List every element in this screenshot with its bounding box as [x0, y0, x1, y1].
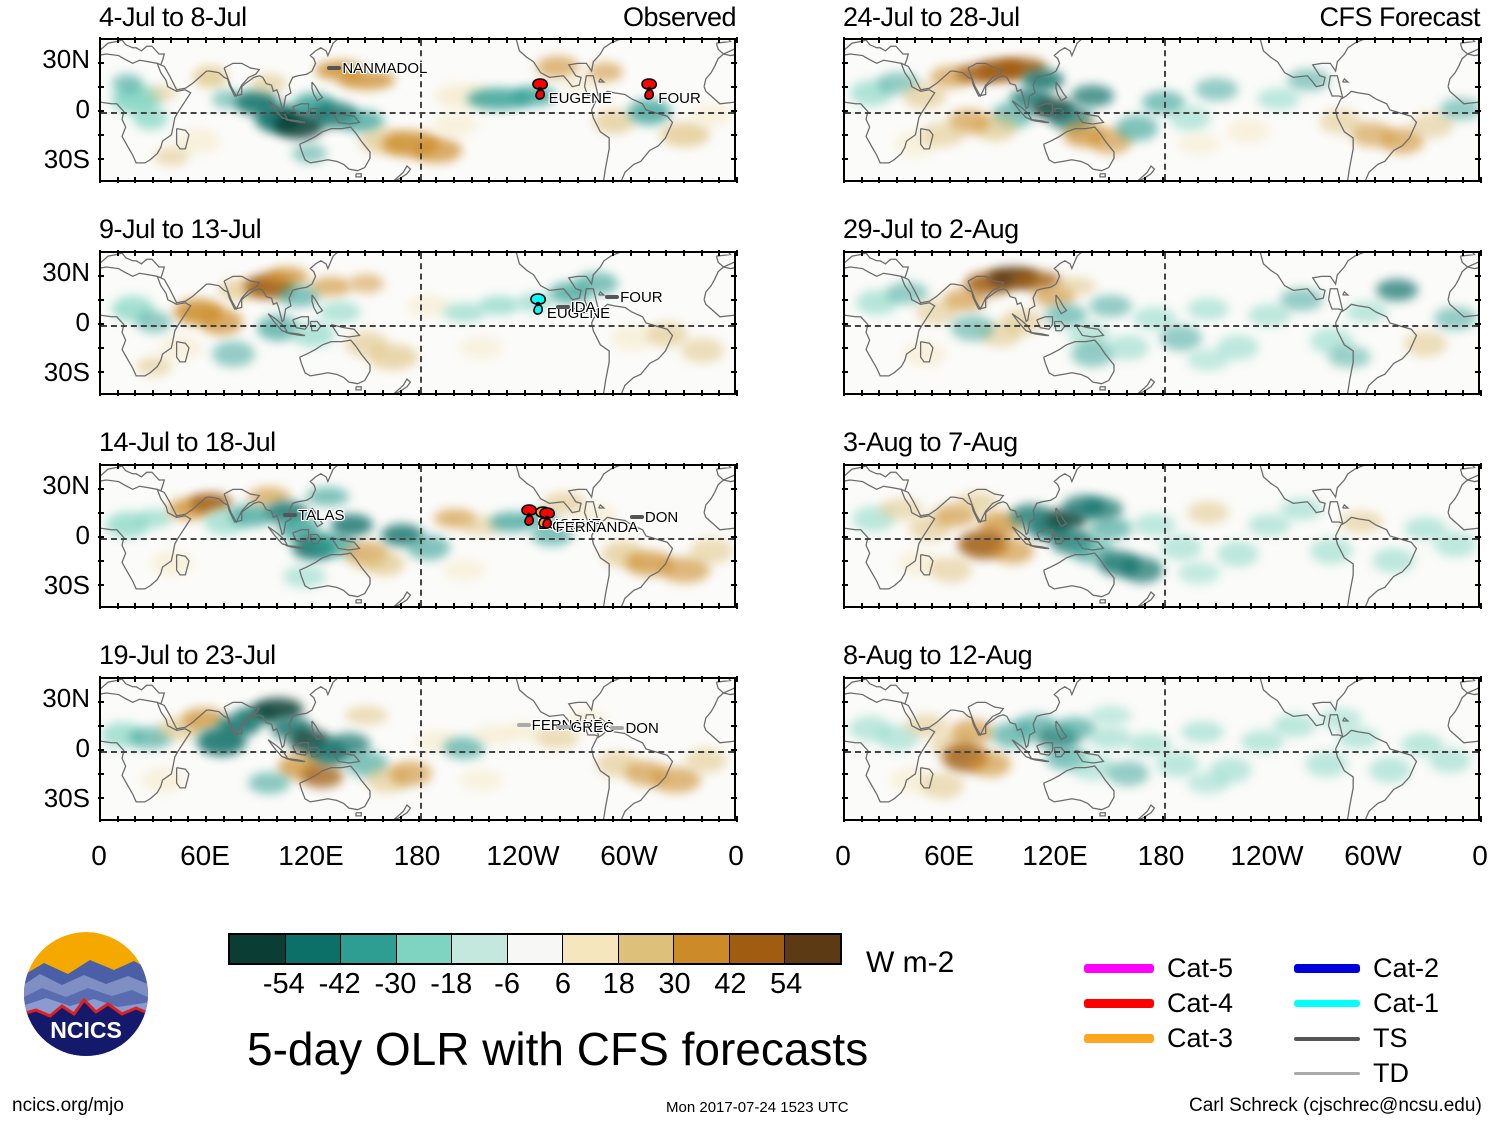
map-field-p8 — [845, 679, 1478, 819]
axis-tick — [364, 177, 366, 183]
axis-tick — [453, 676, 455, 682]
axis-tick — [329, 250, 331, 256]
axis-tick — [1215, 250, 1217, 256]
axis-tick — [967, 37, 969, 43]
axis-tick — [1250, 250, 1252, 256]
axis-tick — [1197, 816, 1199, 822]
axis-tick — [311, 463, 313, 469]
axis-tick — [967, 250, 969, 256]
axis-tick — [152, 177, 154, 183]
colorbar-swatch-6 — [563, 935, 619, 963]
axis-tick — [329, 463, 331, 469]
axis-tick — [842, 584, 848, 586]
axis-tick — [559, 390, 561, 396]
axis-tick — [1427, 816, 1429, 822]
axis-tick — [1055, 816, 1057, 822]
axis-tick — [364, 250, 366, 256]
axis-tick — [1475, 560, 1481, 562]
axis-tick — [1126, 603, 1128, 609]
axis-tick — [294, 250, 296, 256]
axis-tick — [896, 463, 898, 469]
axis-tick — [594, 603, 596, 609]
axis-tick — [842, 86, 848, 88]
axis-tick — [1475, 488, 1481, 490]
axis-tick — [842, 536, 848, 538]
axis-tick — [1374, 816, 1376, 822]
axis-tick — [736, 177, 738, 183]
axis-tick — [577, 463, 579, 469]
axis-tick — [152, 250, 154, 256]
axis-tick — [98, 371, 104, 373]
axis-tick — [718, 390, 720, 396]
axis-tick — [1108, 177, 1110, 183]
axis-tick — [1038, 603, 1040, 609]
map-panel-p4[interactable] — [99, 677, 736, 821]
axis-tick — [98, 347, 104, 349]
coastlines-p6 — [845, 253, 1478, 393]
axis-tick — [718, 37, 720, 43]
axis-tick — [1020, 463, 1022, 469]
axis-tick — [861, 603, 863, 609]
colorbar-swatch-0 — [230, 935, 286, 963]
axis-tick — [1480, 816, 1482, 822]
map-panel-p8[interactable] — [843, 677, 1480, 821]
axis-tick — [418, 390, 420, 396]
axis-tick — [683, 463, 685, 469]
legend-item-cat-5: Cat-5 — [1084, 953, 1233, 984]
axis-tick — [541, 390, 543, 396]
axis-tick — [861, 37, 863, 43]
axis-tick — [612, 603, 614, 609]
axis-tick — [1475, 299, 1481, 301]
storm-label: DON — [645, 509, 678, 526]
axis-tick — [967, 816, 969, 822]
axis-tick — [949, 816, 951, 822]
axis-tick — [134, 177, 136, 183]
axis-tick — [949, 177, 951, 183]
axis-tick — [506, 816, 508, 822]
axis-tick — [665, 603, 667, 609]
axis-tick — [382, 37, 384, 43]
map-panel-p2[interactable] — [99, 251, 736, 395]
xtick-right-4: 120W — [1230, 840, 1303, 872]
legend-item-ts: TS — [1294, 1023, 1408, 1054]
axis-tick — [1462, 37, 1464, 43]
axis-tick — [1268, 816, 1270, 822]
axis-tick — [731, 584, 737, 586]
axis-tick — [364, 816, 366, 822]
colorbar-swatch-3 — [397, 935, 453, 963]
axis-tick — [435, 250, 437, 256]
axis-tick — [1338, 816, 1340, 822]
axis-tick — [1445, 463, 1447, 469]
axis-tick — [311, 390, 313, 396]
axis-tick — [731, 725, 737, 727]
axis-tick — [1250, 390, 1252, 396]
axis-tick — [1338, 463, 1340, 469]
axis-tick — [1215, 676, 1217, 682]
axis-tick — [985, 250, 987, 256]
dateline — [1164, 679, 1166, 819]
axis-tick — [205, 390, 207, 396]
axis-tick — [1073, 177, 1075, 183]
axis-tick — [896, 250, 898, 256]
axis-tick — [418, 177, 420, 183]
colorbar-tick-42: 42 — [714, 968, 746, 1001]
axis-tick — [1392, 390, 1394, 396]
axis-tick — [1475, 62, 1481, 64]
axis-tick — [842, 773, 848, 775]
axis-tick — [967, 390, 969, 396]
axis-tick — [311, 250, 313, 256]
axis-tick — [731, 797, 737, 799]
panel-title-p2: 9-Jul to 13-Jul — [99, 214, 261, 245]
map-panel-p6[interactable] — [843, 251, 1480, 395]
axis-tick — [842, 134, 848, 136]
ytick-30s-p2: 30S — [0, 357, 90, 388]
axis-tick — [1285, 463, 1287, 469]
axis-tick — [630, 463, 632, 469]
colorbar-tick--54: -54 — [263, 968, 305, 1001]
axis-tick — [1268, 177, 1270, 183]
axis-tick — [1285, 250, 1287, 256]
storm-track-line — [517, 723, 531, 727]
axis-tick — [187, 177, 189, 183]
axis-tick — [488, 37, 490, 43]
storm-label: FOUR — [620, 289, 663, 306]
axis-tick — [400, 177, 402, 183]
dateline — [1164, 253, 1166, 393]
axis-tick — [400, 603, 402, 609]
panel-title-p7: 3-Aug to 7-Aug — [843, 427, 1018, 458]
axis-tick — [612, 37, 614, 43]
axis-tick — [329, 37, 331, 43]
axis-tick — [630, 177, 632, 183]
column-header-observed-label: Observed — [436, 2, 736, 33]
axis-tick — [418, 463, 420, 469]
legend-line-cat-5 — [1084, 964, 1154, 973]
axis-tick — [1268, 603, 1270, 609]
axis-tick — [736, 37, 738, 43]
axis-tick — [878, 37, 880, 43]
map-field-p5 — [845, 40, 1478, 180]
axis-tick — [541, 177, 543, 183]
axis-tick — [1091, 177, 1093, 183]
axis-tick — [152, 463, 154, 469]
axis-tick — [506, 390, 508, 396]
storm-label: FOUR — [658, 90, 701, 107]
axis-tick — [843, 37, 845, 43]
axis-tick — [1462, 177, 1464, 183]
axis-tick — [1427, 250, 1429, 256]
axis-tick — [843, 177, 845, 183]
axis-tick — [347, 463, 349, 469]
axis-tick — [1268, 463, 1270, 469]
axis-tick — [1162, 250, 1164, 256]
axis-tick — [842, 797, 848, 799]
equator-line — [101, 538, 734, 540]
axis-tick — [1303, 816, 1305, 822]
axis-tick — [1475, 158, 1481, 160]
axis-tick — [1321, 177, 1323, 183]
axis-tick — [967, 603, 969, 609]
colorbar-tick--42: -42 — [319, 968, 361, 1001]
axis-tick — [914, 463, 916, 469]
axis-tick — [506, 676, 508, 682]
axis-tick — [258, 676, 260, 682]
axis-tick — [1055, 603, 1057, 609]
axis-tick — [1250, 676, 1252, 682]
axis-tick — [205, 177, 207, 183]
axis-tick — [1475, 275, 1481, 277]
axis-tick — [949, 250, 951, 256]
axis-tick — [878, 676, 880, 682]
axis-tick — [1197, 463, 1199, 469]
legend-label-cat-2: Cat-2 — [1373, 953, 1439, 984]
axis-tick — [1232, 463, 1234, 469]
legend-label-cat-1: Cat-1 — [1373, 988, 1439, 1019]
axis-tick — [400, 390, 402, 396]
axis-tick — [99, 816, 101, 822]
axis-tick — [471, 603, 473, 609]
axis-tick — [914, 676, 916, 682]
axis-tick — [1215, 177, 1217, 183]
axis-tick — [382, 463, 384, 469]
axis-tick — [1445, 816, 1447, 822]
axis-tick — [488, 603, 490, 609]
axis-tick — [1409, 603, 1411, 609]
legend-label-td: TD — [1373, 1058, 1409, 1089]
axis-tick — [1303, 390, 1305, 396]
axis-tick — [896, 816, 898, 822]
axis-tick — [1144, 463, 1146, 469]
axis-tick — [1374, 250, 1376, 256]
axis-tick — [1409, 816, 1411, 822]
axis-tick — [1250, 603, 1252, 609]
axis-tick — [223, 390, 225, 396]
axis-tick — [1285, 37, 1287, 43]
map-panel-p3[interactable] — [99, 464, 736, 608]
map-panel-p7[interactable] — [843, 464, 1480, 608]
axis-tick — [1002, 676, 1004, 682]
axis-tick — [98, 536, 104, 538]
axis-tick — [134, 676, 136, 682]
axis-tick — [1475, 536, 1481, 538]
legend-label-ts: TS — [1373, 1023, 1408, 1054]
axis-tick — [1108, 463, 1110, 469]
axis-tick — [718, 250, 720, 256]
axis-tick — [1073, 603, 1075, 609]
axis-tick — [1338, 603, 1340, 609]
axis-tick — [648, 177, 650, 183]
axis-tick — [949, 603, 951, 609]
axis-tick — [683, 676, 685, 682]
map-panel-p5[interactable] — [843, 38, 1480, 182]
axis-tick — [701, 250, 703, 256]
axis-tick — [98, 725, 104, 727]
xtick-left-0: 0 — [91, 840, 107, 872]
axis-tick — [967, 676, 969, 682]
axis-tick — [1392, 250, 1394, 256]
axis-tick — [400, 250, 402, 256]
axis-tick — [914, 603, 916, 609]
axis-tick — [683, 390, 685, 396]
storm-label: FERNANDA — [556, 519, 639, 536]
colorbar-swatch-5 — [508, 935, 564, 963]
axis-tick — [612, 816, 614, 822]
axis-tick — [1144, 603, 1146, 609]
axis-tick — [1480, 177, 1482, 183]
axis-tick — [1232, 603, 1234, 609]
footer-site-link[interactable]: ncics.org/mjo — [12, 1095, 124, 1117]
axis-tick — [98, 701, 104, 703]
axis-tick — [294, 463, 296, 469]
axis-tick — [98, 323, 104, 325]
axis-tick — [1356, 816, 1358, 822]
axis-tick — [471, 390, 473, 396]
axis-tick — [1055, 390, 1057, 396]
axis-tick — [329, 603, 331, 609]
axis-tick — [488, 390, 490, 396]
axis-tick — [1303, 603, 1305, 609]
colorbar-tick--30: -30 — [374, 968, 416, 1001]
axis-tick — [985, 816, 987, 822]
axis-tick — [701, 390, 703, 396]
axis-tick — [1126, 177, 1128, 183]
axis-tick — [1215, 390, 1217, 396]
hurricane-icon — [529, 76, 551, 102]
legend-line-ts — [1294, 1037, 1360, 1041]
axis-tick — [1144, 177, 1146, 183]
axis-tick — [1462, 603, 1464, 609]
axis-tick — [731, 158, 737, 160]
axis-tick — [665, 816, 667, 822]
axis-tick — [98, 773, 104, 775]
axis-tick — [1108, 603, 1110, 609]
axis-tick — [1179, 37, 1181, 43]
axis-tick — [223, 250, 225, 256]
axis-tick — [1409, 177, 1411, 183]
axis-tick — [506, 603, 508, 609]
axis-tick — [258, 390, 260, 396]
axis-tick — [648, 390, 650, 396]
dateline — [420, 253, 422, 393]
axis-tick — [701, 676, 703, 682]
equator-line — [845, 325, 1478, 327]
axis-tick — [1475, 134, 1481, 136]
axis-tick — [1338, 676, 1340, 682]
axis-tick — [1409, 390, 1411, 396]
axis-tick — [1038, 816, 1040, 822]
axis-tick — [1427, 177, 1429, 183]
axis-tick — [914, 390, 916, 396]
colorbar-swatch-8 — [674, 935, 730, 963]
axis-tick — [1392, 676, 1394, 682]
axis-tick — [170, 463, 172, 469]
axis-tick — [878, 390, 880, 396]
axis-tick — [241, 390, 243, 396]
axis-tick — [665, 37, 667, 43]
axis-tick — [736, 676, 738, 682]
axis-tick — [1038, 250, 1040, 256]
axis-tick — [843, 676, 845, 682]
axis-tick — [1303, 177, 1305, 183]
axis-tick — [1091, 463, 1093, 469]
colorbar-swatch-4 — [452, 935, 508, 963]
axis-tick — [842, 62, 848, 64]
axis-tick — [731, 749, 737, 751]
axis-tick — [311, 37, 313, 43]
column-header-observed: 4-Jul to 8-Jul — [99, 2, 247, 33]
axis-tick — [524, 676, 526, 682]
axis-tick — [1475, 347, 1481, 349]
axis-tick — [1285, 676, 1287, 682]
axis-tick — [1445, 250, 1447, 256]
axis-tick — [347, 390, 349, 396]
axis-tick — [665, 250, 667, 256]
axis-tick — [931, 463, 933, 469]
axis-tick — [170, 603, 172, 609]
axis-tick — [842, 701, 848, 703]
legend-line-cat-4 — [1084, 999, 1154, 1008]
axis-tick — [1055, 177, 1057, 183]
axis-tick — [1285, 816, 1287, 822]
axis-tick — [223, 676, 225, 682]
axis-tick — [435, 463, 437, 469]
axis-tick — [1020, 250, 1022, 256]
axis-tick — [205, 603, 207, 609]
axis-tick — [1321, 463, 1323, 469]
axis-tick — [1285, 603, 1287, 609]
equator-line — [845, 538, 1478, 540]
axis-tick — [577, 250, 579, 256]
legend-label-cat-4: Cat-4 — [1167, 988, 1233, 1019]
axis-tick — [329, 816, 331, 822]
axis-tick — [205, 37, 207, 43]
axis-tick — [435, 177, 437, 183]
axis-tick — [842, 158, 848, 160]
axis-tick — [701, 603, 703, 609]
axis-tick — [842, 347, 848, 349]
axis-tick — [1480, 603, 1482, 609]
ytick-0-p2: 0 — [0, 307, 90, 338]
axis-tick — [1162, 390, 1164, 396]
axis-tick — [842, 323, 848, 325]
axis-tick — [294, 390, 296, 396]
axis-tick — [1215, 37, 1217, 43]
ytick-30n-p1: 30N — [0, 44, 90, 75]
axis-tick — [843, 390, 845, 396]
axis-tick — [1091, 676, 1093, 682]
axis-tick — [843, 603, 845, 609]
colorbar-swatch-10 — [785, 935, 840, 963]
axis-tick — [258, 37, 260, 43]
axis-tick — [99, 250, 101, 256]
axis-tick — [718, 463, 720, 469]
ytick-30s-p1: 30S — [0, 144, 90, 175]
axis-tick — [311, 816, 313, 822]
axis-tick — [731, 512, 737, 514]
axis-tick — [1475, 323, 1481, 325]
axis-tick — [524, 390, 526, 396]
axis-tick — [98, 110, 104, 112]
panel-title-p6: 29-Jul to 2-Aug — [843, 214, 1019, 245]
axis-tick — [683, 250, 685, 256]
axis-tick — [842, 512, 848, 514]
axis-tick — [205, 676, 207, 682]
axis-tick — [1356, 250, 1358, 256]
axis-tick — [1179, 463, 1181, 469]
